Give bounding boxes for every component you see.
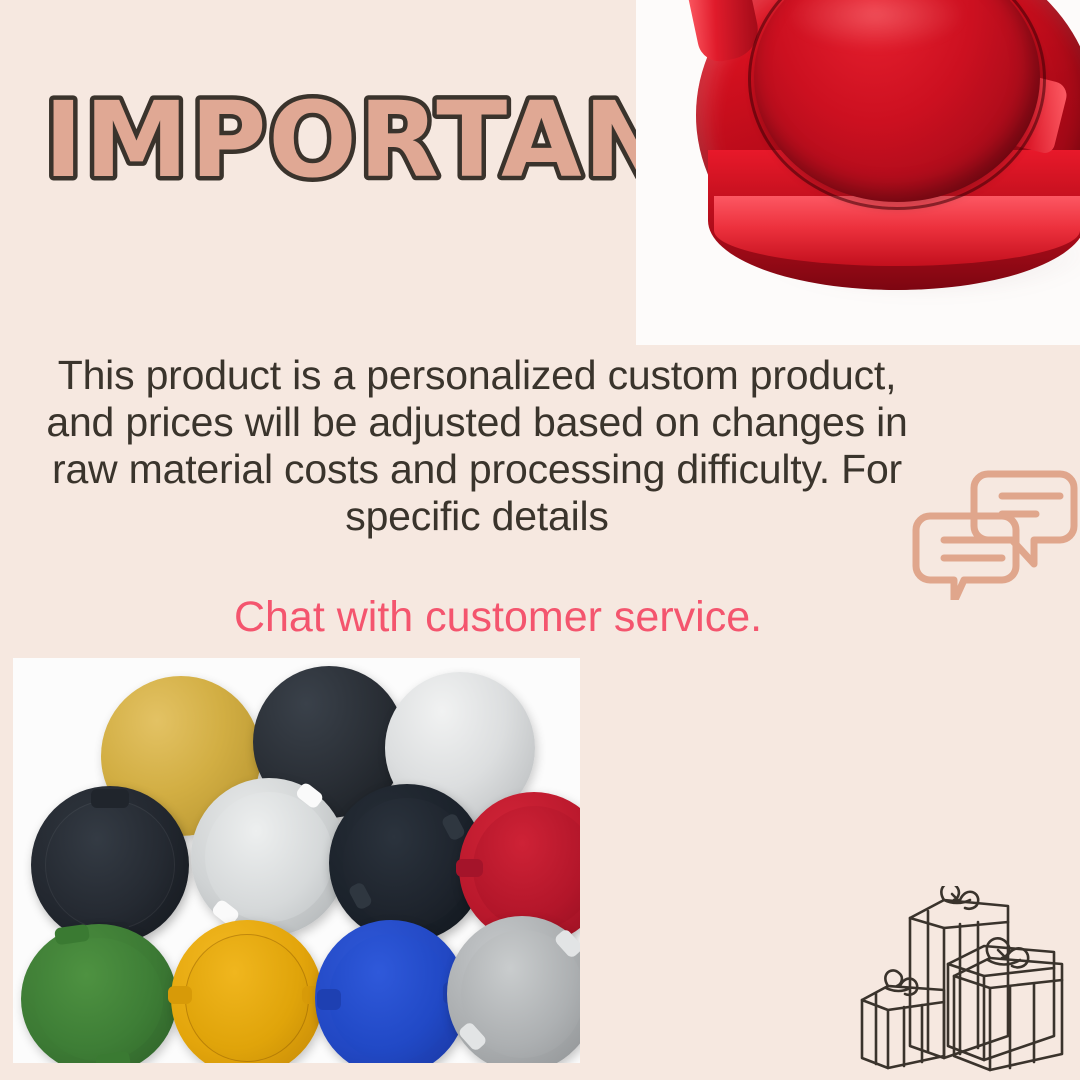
disc-blue — [315, 920, 467, 1063]
gift-boxes-icon — [848, 886, 1074, 1076]
body-paragraph: This product is a personalized custom pr… — [28, 352, 926, 540]
disc-silver — [191, 778, 347, 936]
disc-lid — [329, 934, 454, 1062]
color-options-photo — [13, 658, 580, 1063]
disc-tab — [317, 989, 341, 1011]
page-title: IMPORTANT! — [44, 88, 644, 198]
red-aluminum-case-photo — [636, 0, 1080, 345]
disc-tab — [168, 986, 192, 1005]
disc-lid — [35, 938, 163, 1061]
chat-cta-text[interactable]: Chat with customer service. — [28, 592, 968, 642]
disc-black — [31, 786, 189, 944]
promo-poster: IMPORTANT! This product is a personalize… — [0, 0, 1080, 1080]
disc-grey-silver — [447, 916, 580, 1063]
disc-tab — [91, 789, 129, 808]
disc-lid — [185, 934, 310, 1062]
disc-tab — [456, 859, 483, 877]
disc-lid — [45, 800, 175, 930]
disc-green — [21, 924, 177, 1063]
disc-lid — [473, 806, 581, 931]
chat-bubbles-icon — [912, 460, 1078, 600]
disc-yellow-gold — [171, 920, 323, 1063]
